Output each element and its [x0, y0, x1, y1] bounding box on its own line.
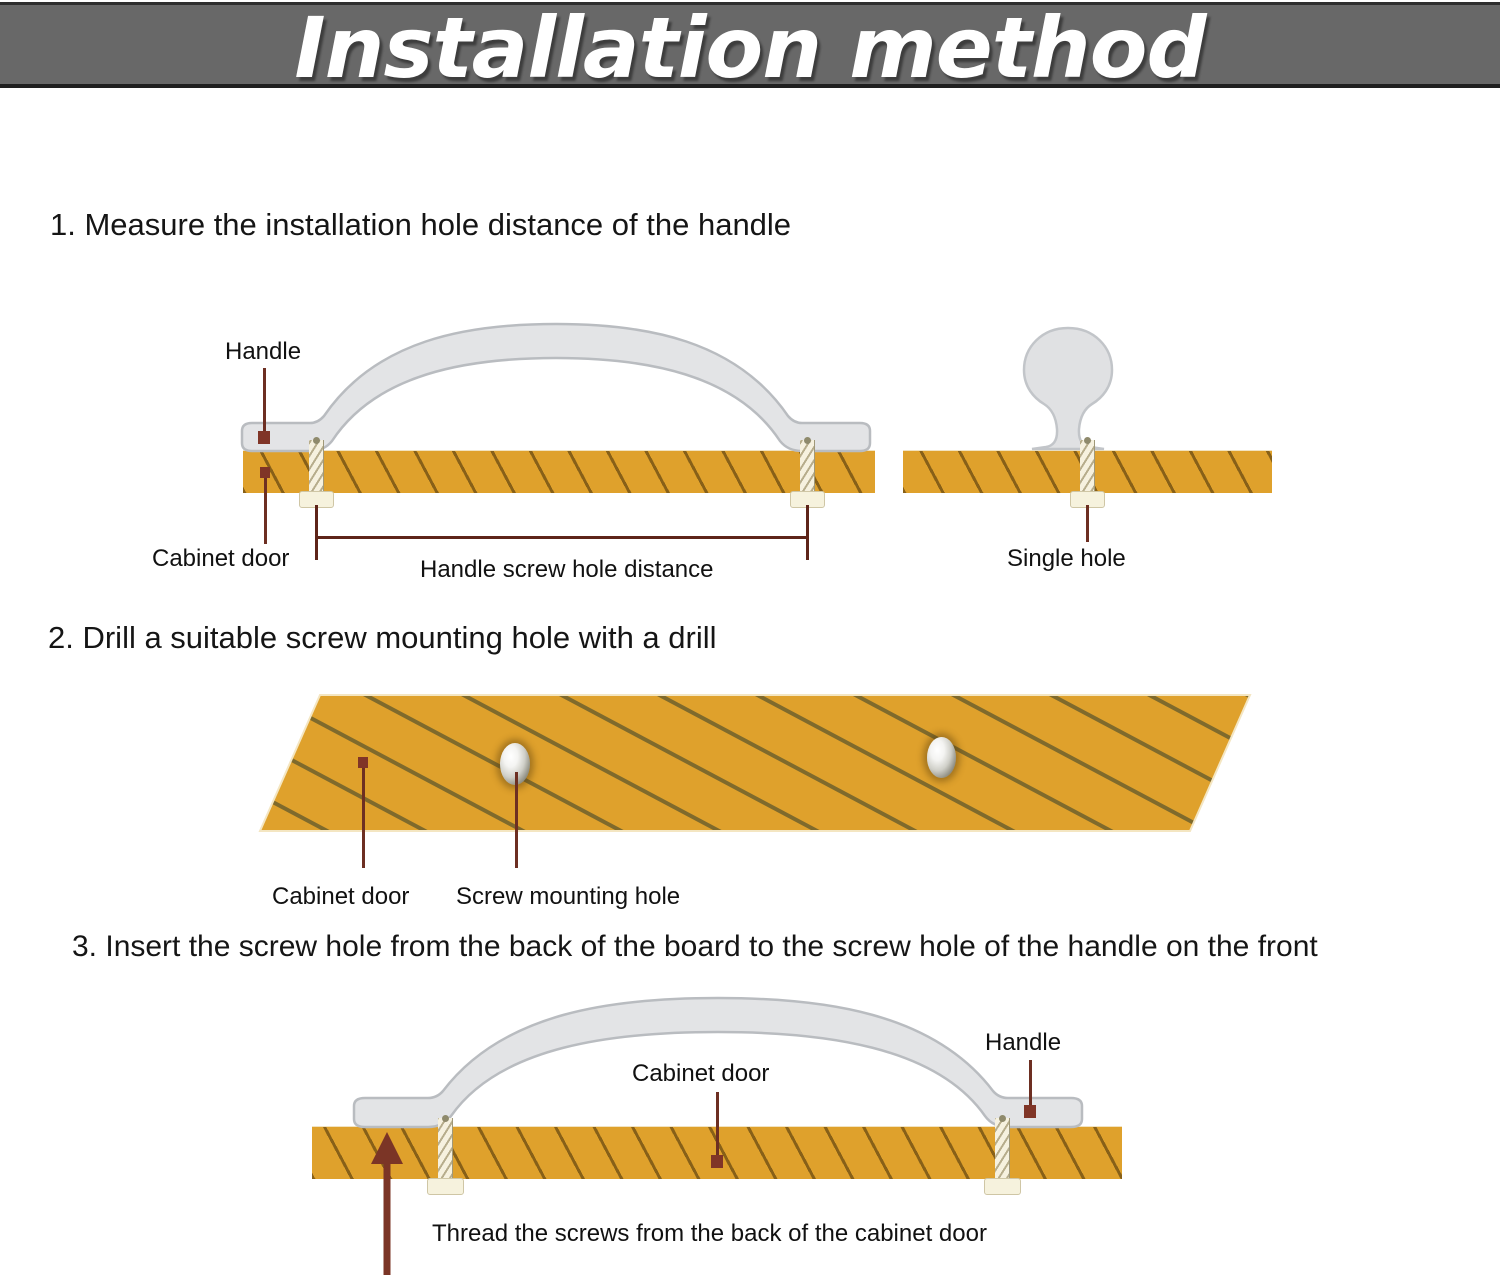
thread-direction-arrow — [365, 1130, 409, 1275]
dimension-tick-right-step1 — [806, 505, 809, 560]
leader-dot-cabinet-door-step3 — [711, 1155, 723, 1168]
leader-dot-cabinet-door-step1 — [260, 467, 270, 478]
screw-tip-knob — [1084, 437, 1091, 444]
knob-shape — [1008, 325, 1128, 455]
label-cabinet-door-step1: Cabinet door — [152, 545, 289, 573]
screw-tip-left-step3 — [442, 1115, 449, 1122]
leader-cabinet-door-step1 — [264, 478, 267, 544]
leader-single-hole — [1086, 505, 1089, 542]
dimension-line-step1 — [315, 536, 809, 539]
drilled-cabinet-door-board — [250, 688, 1260, 838]
leader-screw-mounting-hole — [515, 772, 518, 868]
dimension-tick-left-step1 — [315, 505, 318, 560]
label-single-hole: Single hole — [1007, 545, 1126, 573]
step-3-heading: 3. Insert the screw hole from the back o… — [72, 930, 1318, 964]
screw-head-left-step3 — [427, 1178, 464, 1195]
step-1-heading: 1. Measure the installation hole distanc… — [50, 207, 791, 243]
screw-head-right-step3 — [984, 1178, 1021, 1195]
screw-tip-right-step1 — [804, 437, 811, 444]
leader-dot-cabinet-door-step2 — [358, 757, 368, 768]
leader-handle-step3 — [1029, 1060, 1032, 1111]
screw-mounting-hole-2 — [927, 737, 956, 778]
title-banner: Installation method — [0, 2, 1500, 88]
leader-handle-step1 — [263, 368, 266, 433]
leader-dot-handle-step1 — [258, 431, 270, 444]
label-handle-screw-hole-distance: Handle screw hole distance — [420, 556, 714, 584]
leader-dot-handle-step3 — [1024, 1105, 1036, 1118]
label-cabinet-door-step2: Cabinet door — [272, 883, 409, 911]
page-title: Installation method — [0, 0, 1500, 97]
label-screw-mounting-hole: Screw mounting hole — [456, 883, 680, 911]
cabinet-door-board-step1 — [243, 450, 875, 493]
handle-arch-shape — [236, 322, 876, 454]
screw-tip-left-step1 — [313, 437, 320, 444]
screw-tip-right-step3 — [999, 1115, 1006, 1122]
installation-method-page: Installation method 1. Measure the insta… — [0, 0, 1500, 1275]
label-thread-screws-note: Thread the screws from the back of the c… — [432, 1220, 987, 1248]
leader-cabinet-door-step3 — [716, 1092, 719, 1162]
leader-cabinet-door-step2 — [362, 768, 365, 868]
step-2-heading: 2. Drill a suitable screw mounting hole … — [48, 620, 717, 656]
